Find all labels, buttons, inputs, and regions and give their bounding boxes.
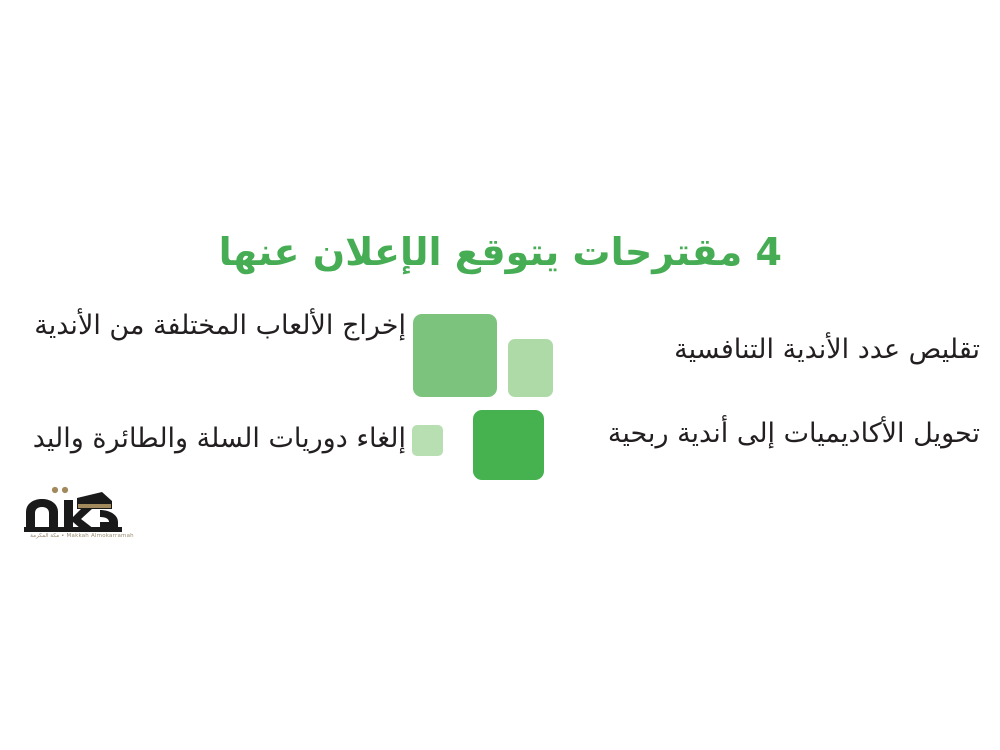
logo-stroke-meem — [26, 499, 58, 529]
proposal-item-separate-sports-from-clubs: إخراج الألعاب المختلفة من الأندية — [14, 308, 406, 343]
logo-dot-right — [62, 487, 68, 493]
makkah-wordmark-icon — [20, 484, 144, 536]
square-tiny-light-green-bottom — [412, 425, 443, 456]
proposal-item-reduce-competitive-clubs: تقليص عدد الأندية التنافسية — [556, 332, 980, 367]
logo-dot-left — [52, 487, 58, 493]
logo-baseline — [24, 527, 122, 532]
square-small-light-green-top — [508, 339, 553, 397]
proposal-item-convert-academies: تحويل الأكاديميات إلى أندية ربحية — [556, 416, 980, 451]
square-medium-vivid-green — [473, 410, 544, 480]
square-large-medium-green — [413, 314, 497, 397]
logo-subtitle: Makkah Almokarramah • مكة المكرمة — [20, 533, 144, 539]
infographic-canvas: 4 مقترحات يتوقع الإعلان عنها تقليص عدد ا… — [0, 0, 1000, 750]
kaaba-gold-band — [78, 504, 111, 508]
page-title: 4 مقترحات يتوقع الإعلان عنها — [0, 228, 782, 276]
logo-stroke-taa — [100, 510, 118, 529]
proposal-item-cancel-leagues: إلغاء دوريات السلة والطائرة واليد — [14, 421, 406, 456]
